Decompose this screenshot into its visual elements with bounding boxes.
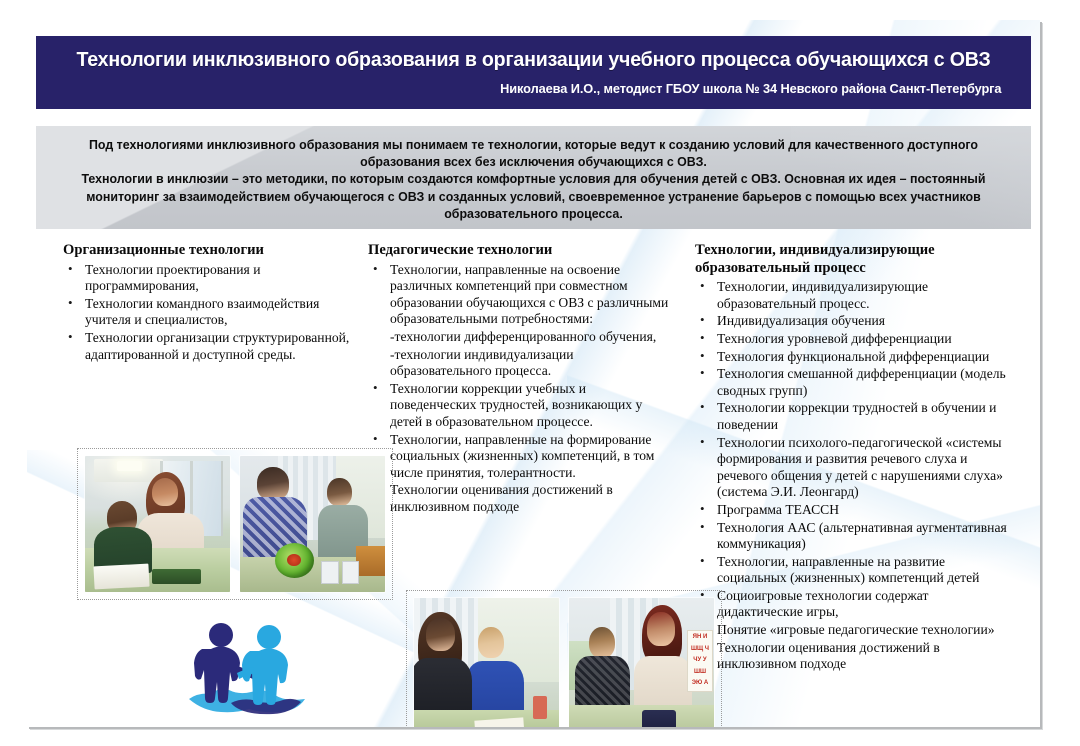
intro-paragraph-2: Технологии в инклюзии – это методики, по… xyxy=(73,171,994,223)
column-pedagogical: Педагогические технологии Технологии, на… xyxy=(368,242,670,517)
list-item: Программа ТЕАССН xyxy=(695,502,1013,519)
column-individualizing: Технологии, индивидуализирующие образова… xyxy=(695,242,1013,674)
list-item: Технологии коррекции трудностей в обучен… xyxy=(695,400,1013,433)
column-heading: Технологии, индивидуализирующие образова… xyxy=(695,242,1013,277)
screenshot-root: Технологии инклюзивного образования в ор… xyxy=(0,0,1080,746)
intro-text-block: Под технологиями инклюзивного образовани… xyxy=(43,126,1023,223)
intro-banner: Под технологиями инклюзивного образовани… xyxy=(36,126,1031,229)
photo-two-teachers-at-desk xyxy=(414,598,559,727)
list-item: Технологии, направленные на развитие соц… xyxy=(695,554,1013,587)
photo-boy-writing-with-teacher xyxy=(85,456,230,592)
column-list: Технологии проектирования и программиров… xyxy=(63,262,351,364)
inclusion-two-figures-holding-hands-icon xyxy=(177,611,317,723)
list-item: Технология уровневой дифференциации xyxy=(695,331,1013,348)
list-item: Индивидуализация обучения xyxy=(695,313,1013,330)
photo-boy-with-teacher-and-alphabet-chart: ЯН И ШЩ Ч ЧУ У ШШ ЭЮ А xyxy=(569,598,714,727)
list-item: Технология ААС (альтернативная аугментат… xyxy=(695,520,1013,553)
list-item: Социоигровые технологии содержат дидакти… xyxy=(695,588,1013,621)
list-item: Технологии, направленные на освоение раз… xyxy=(368,262,670,328)
list-item: Технологии оценивания достижений в инклю… xyxy=(368,482,670,515)
photo-row: ЯН И ШЩ Ч ЧУ У ШШ ЭЮ А xyxy=(414,598,714,727)
list-item: Технология смешанной дифференциации (мод… xyxy=(695,366,1013,399)
column-heading: Организационные технологии xyxy=(63,242,351,260)
column-heading: Педагогические технологии xyxy=(368,242,670,260)
list-item: Технологии коррекции учебных и поведенче… xyxy=(368,381,670,431)
list-item: Технологии организации структурированной… xyxy=(63,330,351,363)
alphabet-chart: ЯН И ШЩ Ч ЧУ У ШШ ЭЮ А xyxy=(687,630,712,692)
list-item: Технологии проектирования и программиров… xyxy=(63,262,351,295)
photo-specialist-with-boy-and-green-toy xyxy=(240,456,385,592)
list-item: Технология функциональной дифференциации xyxy=(695,349,1013,366)
list-item-sub: -технологии дифференцированного обучения… xyxy=(368,329,670,346)
alphabet-chart-row: ЭЮ А xyxy=(688,680,711,687)
column-list: Технологии, направленные на освоение раз… xyxy=(368,262,670,516)
list-item: Понятие «игровые педагогические технолог… xyxy=(695,622,1013,639)
alphabet-chart-row: ЯН И xyxy=(688,634,711,641)
alphabet-chart-row: ШШ xyxy=(688,669,711,676)
presentation-slide: Технологии инклюзивного образования в ор… xyxy=(27,20,1040,727)
column-organizational: Организационные технологии Технологии пр… xyxy=(63,242,351,364)
list-item: Технологии, индивидуализирующие образова… xyxy=(695,279,1013,312)
photo-row xyxy=(85,456,385,592)
list-item: Технологии психолого-педагогической «сис… xyxy=(695,435,1013,501)
list-item: Технологии командного взаимодействия учи… xyxy=(63,296,351,329)
list-item: Технологии, направленные на формирование… xyxy=(368,432,670,482)
slide-header: Технологии инклюзивного образования в ор… xyxy=(36,36,1031,109)
photo-frame-left xyxy=(77,448,393,600)
column-list: Технологии, индивидуализирующие образова… xyxy=(695,279,1013,673)
intro-paragraph-1: Под технологиями инклюзивного образовани… xyxy=(73,137,994,171)
photo-frame-bottom: ЯН И ШЩ Ч ЧУ У ШШ ЭЮ А xyxy=(406,590,722,727)
alphabet-chart-row: ШЩ Ч xyxy=(688,646,711,653)
list-item: Технологии оценивания достижений в инклю… xyxy=(695,640,1013,673)
list-item-sub: -технологии индивидуализации образовател… xyxy=(368,347,670,380)
slide-author: Николаева И.О., методист ГБОУ школа № 34… xyxy=(81,81,1015,97)
slide-title: Технологии инклюзивного образования в ор… xyxy=(74,48,994,72)
alphabet-chart-row: ЧУ У xyxy=(688,657,711,664)
